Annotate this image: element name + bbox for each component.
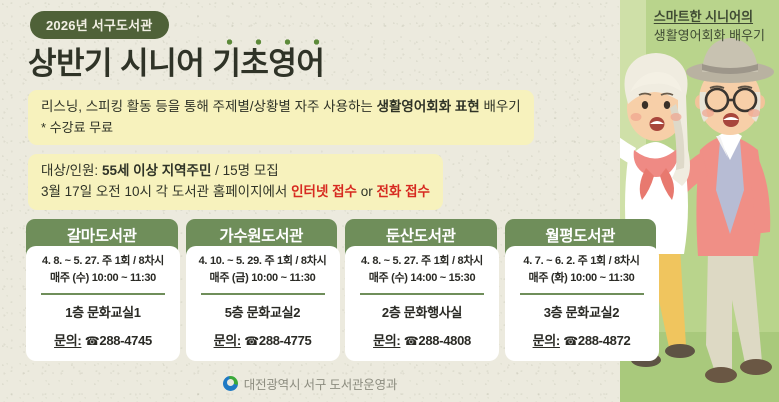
- schedule-time: 매주 (수) 14:00 ~ 15:30: [349, 270, 495, 287]
- poster-canvas: 스마트한 시니어의 생활영어회화 배우기 2026년 서구도서관 상반기 시니어…: [0, 0, 779, 402]
- classroom-location: 3층 문화교실2: [509, 302, 655, 321]
- contact-line: 문의: ☎288-4775: [190, 330, 336, 349]
- registration-when: 3월 17일 오전 10시 각 도서관 홈페이지에서: [41, 184, 291, 199]
- card-divider: [41, 293, 165, 295]
- contact-line: 문의: ☎288-4872: [509, 330, 655, 349]
- contact-label: 문의:: [54, 333, 81, 348]
- contact-label: 문의:: [533, 333, 560, 348]
- library-cards: 갈마도서관 4. 8. ~ 5. 27. 주 1회 / 8차시 매주 (수) 1…: [26, 219, 656, 361]
- library-card-body: 4. 8. ~ 5. 27. 주 1회 / 8차시 매주 (수) 10:00 ~…: [26, 246, 180, 361]
- course-fee-note: * 수강료 무료: [41, 118, 521, 138]
- registration-or: or: [357, 184, 377, 199]
- phone-icon: ☎: [563, 334, 578, 348]
- dcj-logo-icon: [223, 376, 238, 391]
- tagline-line-1: 스마트한 시니어의: [654, 8, 765, 27]
- phone-icon: ☎: [404, 334, 419, 348]
- contact-line: 문의: ☎288-4745: [30, 330, 176, 349]
- desc-text-c: 배우기: [480, 99, 521, 114]
- registration-line: 3월 17일 오전 10시 각 도서관 홈페이지에서 인터넷 접수 or 전화 …: [41, 182, 430, 203]
- phone-icon: ☎: [85, 334, 100, 348]
- card-divider: [360, 293, 484, 295]
- classroom-location: 5층 문화교실2: [190, 302, 336, 321]
- target-value: 55세 이상 지역주민: [102, 163, 211, 178]
- library-card: 둔산도서관 4. 8. ~ 5. 27. 주 1회 / 8차시 매주 (수) 1…: [345, 219, 497, 361]
- title-emphasized-part: 기초영어: [212, 46, 324, 81]
- page-title: 상반기 시니어 기초영어: [28, 38, 324, 83]
- schedule-period: 4. 8. ~ 5. 27. 주 1회 / 8차시: [349, 253, 495, 270]
- schedule-time: 매주 (금) 10:00 ~ 11:30: [190, 270, 336, 287]
- phone-number: 288-4745: [99, 333, 152, 348]
- contact-line: 문의: ☎288-4808: [349, 330, 495, 349]
- contact-label: 문의:: [214, 333, 241, 348]
- card-divider: [201, 293, 325, 295]
- target-audience-line: 대상/인원: 55세 이상 지역주민 / 15명 모집: [41, 161, 430, 182]
- enrollment-info-box: 대상/인원: 55세 이상 지역주민 / 15명 모집 3월 17일 오전 10…: [28, 154, 443, 210]
- target-label: 대상/인원:: [41, 163, 102, 178]
- schedule-period: 4. 8. ~ 5. 27. 주 1회 / 8차시: [30, 253, 176, 270]
- schedule-time: 매주 (수) 10:00 ~ 11:30: [30, 270, 176, 287]
- desc-text-a: 리스닝, 스피킹 활동 등을 통해 주제별/상황별 자주 사용하는: [41, 99, 377, 114]
- organization-name: 대전광역시 서구 도서관운영과: [244, 374, 397, 393]
- footer: 대전광역시 서구 도서관운영과: [0, 374, 620, 393]
- target-quota: / 15명 모집: [211, 163, 278, 178]
- library-card-body: 4. 10. ~ 5. 29. 주 1회 / 8차시 매주 (금) 10:00 …: [186, 246, 340, 361]
- title-plain-part: 상반기 시니어: [28, 46, 212, 81]
- tagline-line-2: 생활영어회화 배우기: [654, 27, 765, 46]
- online-registration-label: 인터넷 접수: [291, 184, 357, 199]
- classroom-location: 2층 문화행사실: [349, 302, 495, 321]
- library-card-body: 4. 7. ~ 6. 2. 주 1회 / 8차시 매주 (화) 10:00 ~ …: [505, 246, 659, 361]
- classroom-location: 1층 문화교실1: [30, 302, 176, 321]
- tagline: 스마트한 시니어의 생활영어회화 배우기: [654, 8, 765, 46]
- schedule-period: 4. 10. ~ 5. 29. 주 1회 / 8차시: [190, 253, 336, 270]
- phone-icon: ☎: [244, 334, 259, 348]
- library-card: 월평도서관 4. 7. ~ 6. 2. 주 1회 / 8차시 매주 (화) 10…: [505, 219, 657, 361]
- phone-number: 288-4872: [578, 333, 631, 348]
- library-card-body: 4. 8. ~ 5. 27. 주 1회 / 8차시 매주 (수) 14:00 ~…: [345, 246, 499, 361]
- course-description-box: 리스닝, 스피킹 활동 등을 통해 주제별/상황별 자주 사용하는 생활영어회화…: [28, 90, 534, 145]
- contact-label: 문의:: [373, 333, 400, 348]
- library-card: 가수원도서관 4. 10. ~ 5. 29. 주 1회 / 8차시 매주 (금)…: [186, 219, 338, 361]
- course-description-line-1: 리스닝, 스피킹 활동 등을 통해 주제별/상황별 자주 사용하는 생활영어회화…: [41, 97, 521, 118]
- phone-number: 288-4775: [259, 333, 312, 348]
- phone-registration-label: 전화 접수: [376, 184, 429, 199]
- year-badge: 2026년 서구도서관: [30, 11, 169, 39]
- schedule-time: 매주 (화) 10:00 ~ 11:30: [509, 270, 655, 287]
- schedule-period: 4. 7. ~ 6. 2. 주 1회 / 8차시: [509, 253, 655, 270]
- library-card: 갈마도서관 4. 8. ~ 5. 27. 주 1회 / 8차시 매주 (수) 1…: [26, 219, 178, 361]
- card-divider: [520, 293, 644, 295]
- phone-number: 288-4808: [418, 333, 471, 348]
- desc-text-b: 생활영어회화 표현: [377, 99, 480, 114]
